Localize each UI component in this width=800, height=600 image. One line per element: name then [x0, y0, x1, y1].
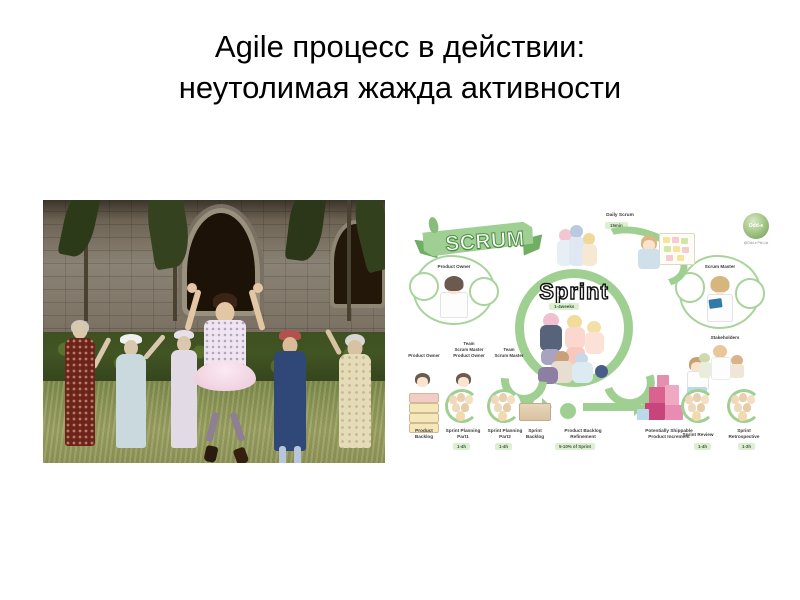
sprint-duration-badge: 1-4weeks: [549, 303, 579, 310]
scrum-master-label: Scrum Master: [681, 264, 759, 269]
palm-trunk: [347, 200, 351, 321]
flow-arrow-to-increment: [583, 403, 635, 411]
step-label-product-backlog-refinement: Product Backlog Refinement: [549, 428, 617, 441]
sprint-planning-2-people: [491, 393, 517, 419]
logo-text: Odd-e: [749, 223, 763, 229]
step-badge-sprint-planning-2: 1-4h: [495, 443, 512, 450]
flow-top-label-team-sm: Team Scrum Master: [483, 347, 535, 359]
product-owner-cloud: Product Owner: [413, 255, 495, 325]
daily-scrum-label: Daily Scrum: [585, 213, 655, 218]
scrum-framework-infographic: SCRUM Odd-e @Odd-e Pte Ltd Product Owner…: [397, 207, 775, 461]
photo-person-red-cap: [269, 330, 311, 452]
stakeholders-group: [699, 343, 747, 379]
scrum-banner: SCRUM: [415, 219, 539, 259]
product-owner-label: Product Owner: [415, 264, 493, 269]
stakeholders-label: Stakeholders: [689, 335, 761, 340]
product-backlog-refinement-icon: [560, 403, 576, 419]
task-board-icon: [659, 233, 695, 265]
photo-person-left: [60, 322, 100, 452]
product-owner-mini-avatar: [414, 373, 431, 390]
step-badge-sprint-planning-1: 1-4h: [453, 443, 470, 450]
photo-person-right: [334, 334, 376, 452]
sprint-review-people: [685, 393, 711, 419]
photo-jumping-man-tutu: [193, 293, 257, 418]
photo-person-hat: [111, 334, 151, 452]
scrum-master-cloud: Scrum Master: [679, 255, 761, 329]
sprint-retrospective-people: [731, 393, 757, 419]
sprint-planning-1-people: [449, 393, 475, 419]
logo-subtext: @Odd-e Pte Ltd: [741, 241, 771, 245]
sprint-backlog-icon: [519, 403, 551, 421]
daily-scrum-facilitator: [637, 235, 663, 269]
step-label-sprint-retrospective: Sprint Retrospective: [719, 428, 769, 441]
scrum-master-avatar: [706, 276, 734, 322]
product-owner-avatar: [440, 276, 468, 318]
page-title: Agile процесс в действии: неутолимая жаж…: [40, 26, 760, 108]
presentation-slide: Agile процесс в действии: неутолимая жаж…: [0, 0, 800, 600]
product-backlog-stack-icon: [409, 393, 439, 433]
step-badge-refinement: 5-10% of Sprint: [555, 443, 595, 450]
book-icon: [708, 298, 722, 309]
team-mini-avatar: [455, 373, 472, 390]
pink-tutu: [194, 361, 256, 391]
step-badge-sprint-review: 1-4h: [694, 443, 711, 450]
sprint-label: Sprint: [523, 279, 625, 305]
odd-e-logo: Odd-e @Odd-e Pte Ltd: [741, 213, 771, 245]
daily-scrum-people: [557, 223, 603, 267]
step-label-sprint-review: Sprint Review: [673, 432, 723, 438]
step-badge-sprint-retrospective: 1-3h: [738, 443, 755, 450]
logo-circle-icon: Odd-e: [743, 213, 769, 239]
ace-ventura-dancing-photo: [43, 200, 385, 463]
ribbon-knot-icon: [427, 216, 439, 234]
